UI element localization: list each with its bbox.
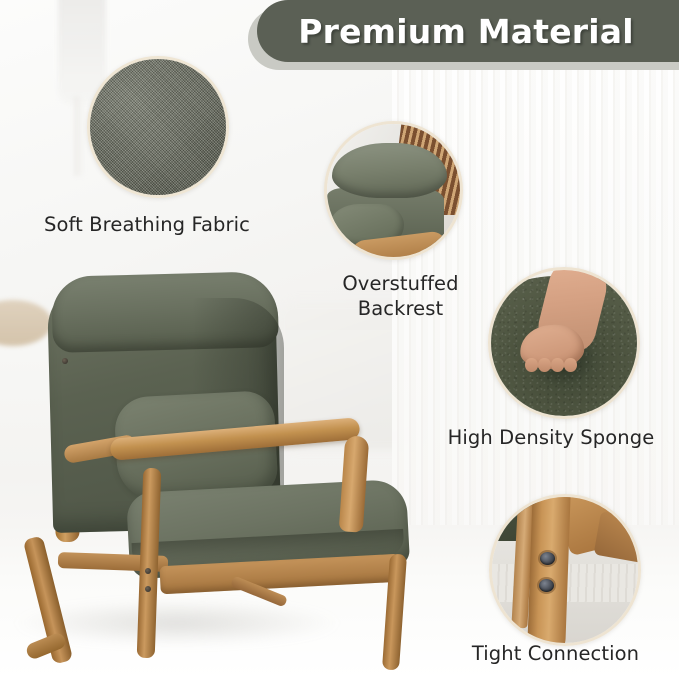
- feature-image-high-density-sponge: [488, 267, 640, 419]
- sponge-knuckle: [551, 358, 564, 373]
- screw-bolt-icon: [539, 579, 554, 592]
- feature-label-high-density-sponge: High Density Sponge: [436, 425, 666, 450]
- background-lamp-stem: [74, 96, 85, 176]
- feature-image-soft-breathing-fabric: [87, 56, 229, 198]
- page-title: Premium Material: [298, 12, 634, 51]
- sponge-knuckle: [538, 358, 551, 373]
- feature-image-overstuffed-backrest: [324, 121, 463, 260]
- joint-side-rail: [594, 511, 641, 563]
- chair-bolt-icon: [62, 358, 68, 364]
- feature-label-soft-breathing-fabric: Soft Breathing Fabric: [44, 212, 294, 237]
- sponge-knuckle: [525, 358, 538, 373]
- feature-image-tight-connection: [489, 494, 641, 646]
- infographic-canvas: Premium Material Soft Breathing Fabric O…: [0, 0, 679, 679]
- feature-label-overstuffed-backrest: Overstuffed Backrest: [308, 271, 493, 321]
- chair-bolt-icon: [145, 568, 151, 574]
- fabric-weave-texture: [90, 59, 226, 195]
- joint-main-leg-post: [527, 494, 571, 646]
- product-image-armchair: [12, 268, 432, 668]
- feature-label-tight-connection: Tight Connection: [443, 641, 668, 666]
- chair-bolt-icon: [145, 586, 151, 592]
- title-banner: Premium Material: [257, 0, 679, 62]
- backrest-headrest-cushion: [332, 143, 446, 199]
